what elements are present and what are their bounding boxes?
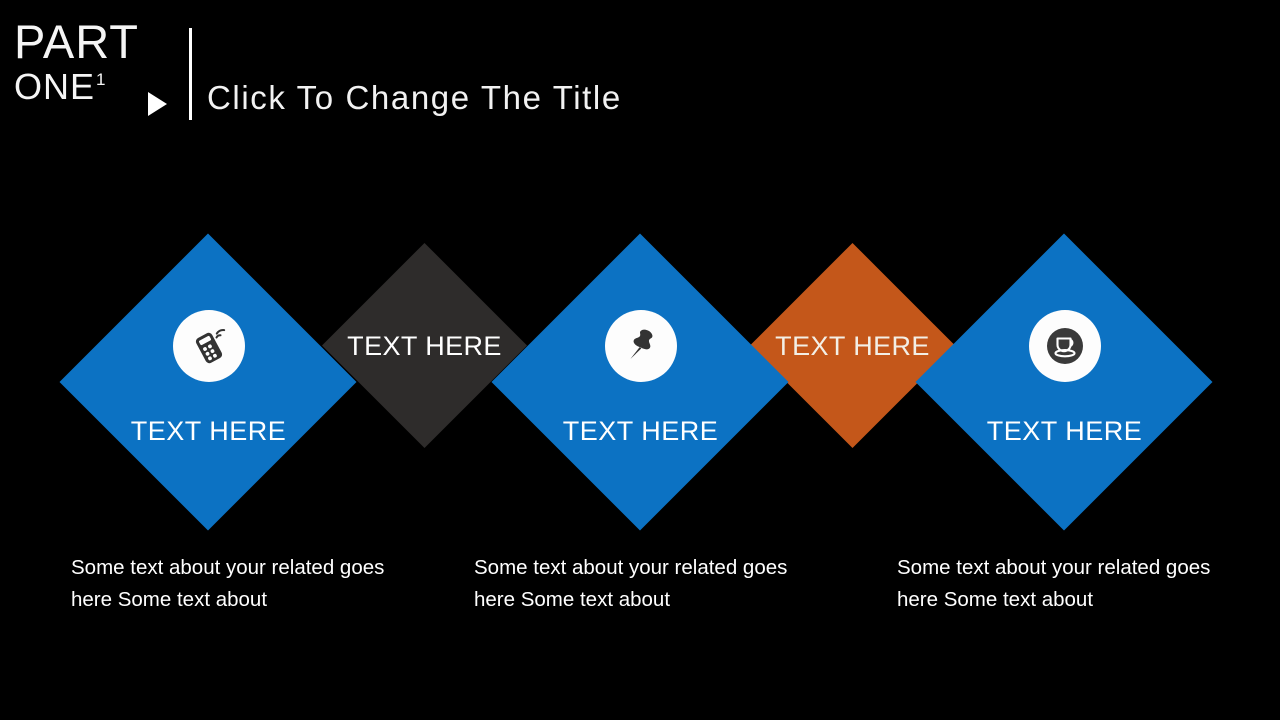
remote-control-icon bbox=[187, 324, 231, 368]
diamond-1[interactable]: TEXT HERE bbox=[60, 234, 357, 531]
caption-3: Some text about your related goes here S… bbox=[897, 552, 1227, 616]
diamond-1-shape bbox=[60, 234, 357, 531]
coffee-cup-icon bbox=[1041, 322, 1089, 370]
diamond-1-label: TEXT HERE bbox=[60, 416, 357, 447]
diamond-5-shape bbox=[916, 234, 1213, 531]
diamond-5[interactable]: TEXT HERE bbox=[916, 234, 1213, 531]
diamond-1-icon-circle bbox=[173, 310, 245, 382]
caption-2: Some text about your related goes here S… bbox=[474, 552, 804, 616]
diamond-3[interactable]: TEXT HERE bbox=[492, 234, 789, 531]
caption-1: Some text about your related goes here S… bbox=[71, 552, 401, 616]
diamond-5-label: TEXT HERE bbox=[916, 416, 1213, 447]
diamond-3-shape bbox=[492, 234, 789, 531]
pushpin-icon bbox=[619, 324, 663, 368]
diamond-3-label: TEXT HERE bbox=[492, 416, 789, 447]
diamond-5-icon-circle bbox=[1029, 310, 1101, 382]
diamond-3-icon-circle bbox=[605, 310, 677, 382]
